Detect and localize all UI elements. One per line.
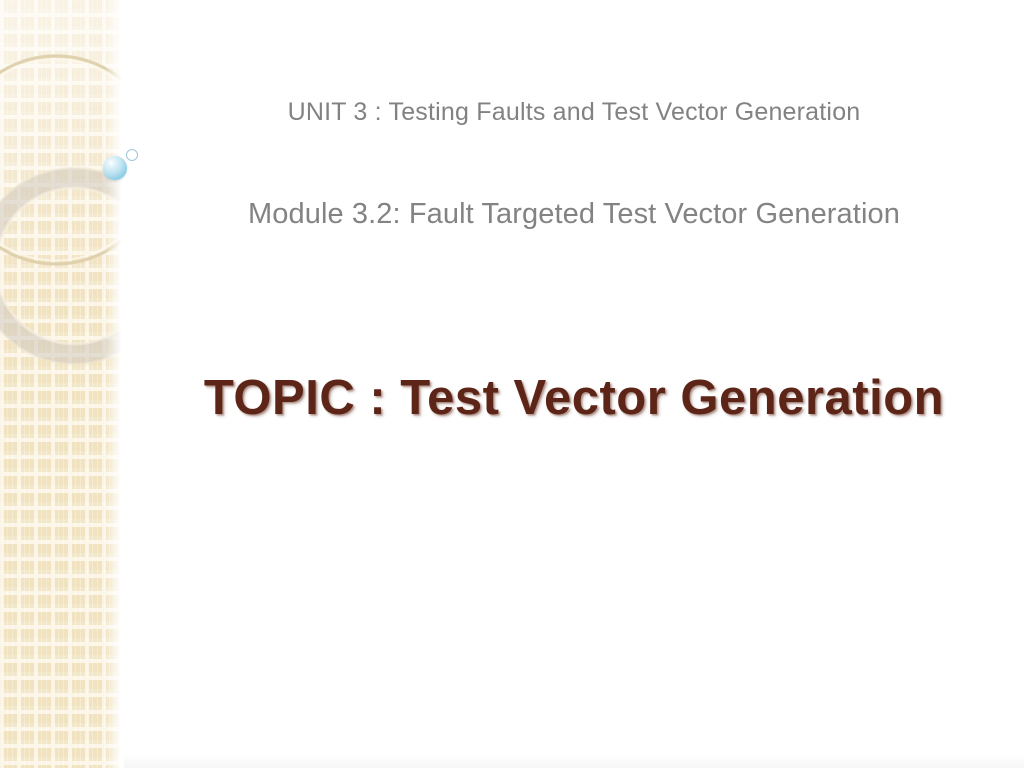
unit-line: UNIT 3 : Testing Faults and Test Vector … [124, 98, 1024, 127]
grid-paper-texture [0, 0, 120, 768]
decorative-side-band [0, 0, 124, 768]
module-heading: Module 3.2: Fault Targeted Test Vector G… [214, 194, 934, 235]
slide-content: UNIT 3 : Testing Faults and Test Vector … [124, 0, 1024, 768]
presentation-slide: UNIT 3 : Testing Faults and Test Vector … [0, 0, 1024, 768]
page-title: TOPIC : Test Vector Generation [124, 370, 1024, 426]
